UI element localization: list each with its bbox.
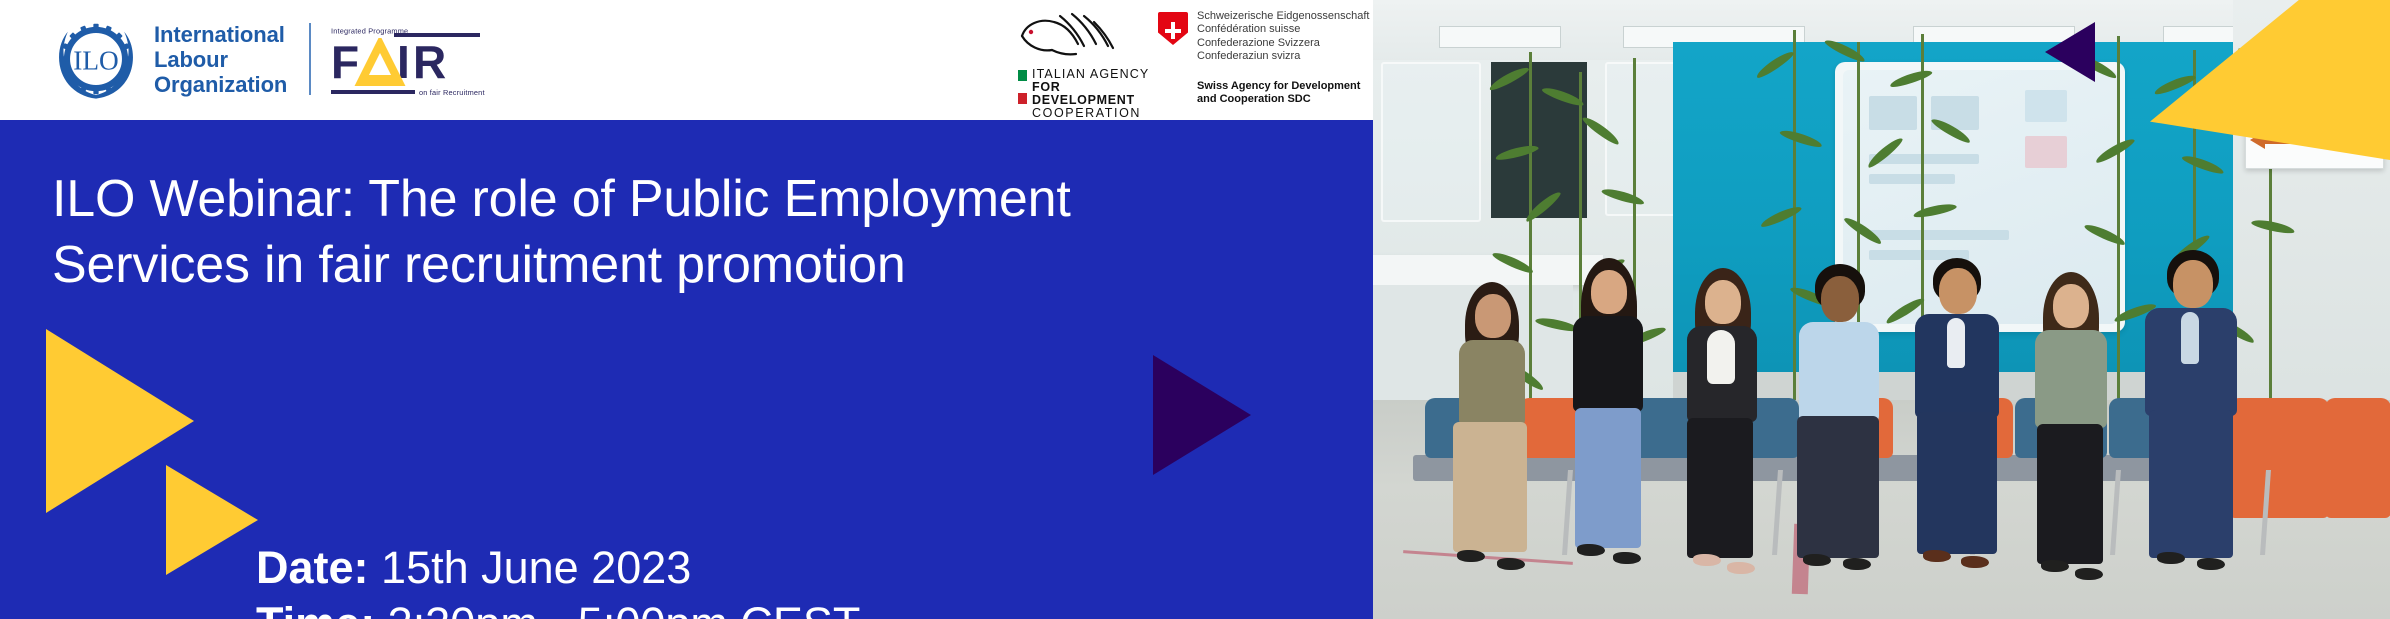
photo-person-6 bbox=[2021, 272, 2133, 592]
event-date-row: Date: 15th June 2023 bbox=[256, 540, 860, 596]
fair-bottom-rule bbox=[331, 90, 415, 94]
fair-top-rule bbox=[394, 33, 480, 37]
photo-person-3 bbox=[1673, 268, 1785, 588]
swiss-shield-icon bbox=[1158, 12, 1188, 45]
fair-bottom-text: on fair Recruitment bbox=[419, 89, 485, 97]
ilo-name: International Labour Organization bbox=[154, 22, 287, 97]
ilo-name-line1: International bbox=[154, 22, 287, 47]
swiss-sdc-logo: Schweizerische Eidgenossenschaft Confédé… bbox=[1158, 8, 1368, 112]
italian-agency-logo: ITALIAN AGENCY FOR DEVELOPMENT COOPERATI… bbox=[1000, 8, 1160, 110]
purple-left-triangle-icon bbox=[2045, 22, 2095, 82]
purple-play-triangle-icon bbox=[1153, 355, 1251, 475]
photo-person-1 bbox=[1443, 282, 1553, 582]
time-label: Time: bbox=[256, 598, 375, 619]
fair-top-text: Integrated Programme bbox=[331, 27, 388, 36]
swiss-cross-horizontal bbox=[1165, 29, 1181, 33]
date-label: Date: bbox=[256, 542, 369, 593]
event-details: Date: 15th June 2023 Time: 3:30pm - 5:00… bbox=[256, 540, 860, 619]
logo-strip: ILO International Labour Organization In… bbox=[0, 0, 1373, 120]
swiss-confederation-names: Schweizerische Eidgenossenschaft Confédé… bbox=[1197, 10, 1369, 64]
svg-text:R: R bbox=[413, 38, 447, 86]
ilo-name-line2: Labour bbox=[154, 47, 287, 72]
swiss-sdc-line2: and Cooperation SDC bbox=[1197, 93, 1360, 106]
italian-agency-text: ITALIAN AGENCY FOR DEVELOPMENT COOPERATI… bbox=[1032, 68, 1160, 120]
blue-content-panel: ILO Webinar: The role of Public Employme… bbox=[0, 120, 1373, 619]
italian-agency-line3: COOPERATION bbox=[1032, 107, 1160, 120]
swiss-name-rm: Confederaziun svizra bbox=[1197, 50, 1369, 63]
swiss-name-it: Confederazione Svizzera bbox=[1197, 37, 1369, 50]
photo-ceiling-light-1 bbox=[1439, 26, 1561, 48]
swiss-name-de: Schweizerische Eidgenossenschaft bbox=[1197, 10, 1369, 23]
svg-text:F: F bbox=[331, 38, 360, 86]
ilo-name-line3: Organization bbox=[154, 72, 287, 97]
fair-programme-logo: Integrated Programme F I R bbox=[331, 16, 481, 102]
photo-person-5 bbox=[1903, 258, 2023, 588]
photo-board-swatch-4 bbox=[2025, 136, 2067, 168]
photo-person-2 bbox=[1561, 258, 1671, 588]
svg-text:ILO: ILO bbox=[73, 46, 118, 76]
photo-board-swatch-3 bbox=[2025, 90, 2067, 122]
webinar-banner: ILO International Labour Organization In… bbox=[0, 0, 2390, 619]
ilo-emblem-icon: ILO bbox=[52, 15, 140, 103]
photo-person-7 bbox=[2135, 250, 2261, 590]
event-time-row: Time: 3:30pm - 5:00pm CEST bbox=[256, 596, 860, 619]
photo-chair-empty-2 bbox=[2325, 398, 2390, 518]
swiss-sdc-name: Swiss Agency for Development and Coopera… bbox=[1197, 80, 1360, 107]
italian-flag-bars bbox=[1018, 70, 1027, 104]
fair-wordmark: F I R bbox=[331, 38, 481, 86]
italian-agency-line2: FOR DEVELOPMENT bbox=[1032, 81, 1160, 107]
photo-person-4 bbox=[1785, 264, 1905, 590]
time-value: 3:30pm - 5:00pm CEST bbox=[388, 598, 861, 619]
swiss-name-fr: Confédération suisse bbox=[1197, 23, 1369, 36]
swiss-sdc-line1: Swiss Agency for Development bbox=[1197, 80, 1360, 93]
page-title: ILO Webinar: The role of Public Employme… bbox=[52, 166, 1232, 298]
ilo-logo-lockup: ILO International Labour Organization In… bbox=[52, 10, 481, 108]
photo-glass-panel-left bbox=[1381, 62, 1481, 222]
hero-photograph: atct فضاء الإستقبال Espace d'Acceuil bbox=[1373, 0, 2390, 619]
dove-icon bbox=[1016, 10, 1136, 66]
date-value: 15th June 2023 bbox=[381, 542, 691, 593]
logo-divider bbox=[309, 23, 311, 95]
yellow-play-triangle-small-icon bbox=[166, 465, 258, 575]
